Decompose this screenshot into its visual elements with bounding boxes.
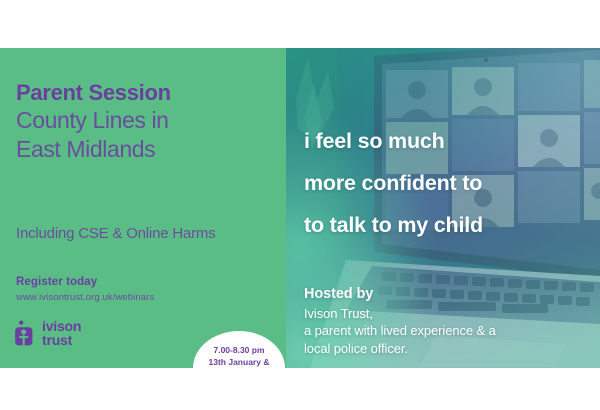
title-line-1: County Lines in (16, 106, 276, 135)
hosted-line-2: a parent with lived experience & a (304, 322, 596, 339)
quote-line-2: more confident to (304, 163, 594, 205)
subtitle-text: Including CSE & Online Harms (16, 225, 278, 243)
quote-text: i feel so much more confident to to talk… (304, 121, 594, 247)
right-photo-panel: i feel so much more confident to to talk… (286, 48, 600, 368)
hosted-line-3: local police officer. (304, 340, 596, 357)
left-green-panel: Parent Session County Lines in East Midl… (0, 48, 286, 368)
logo-word-line-1: ivison (42, 319, 81, 333)
register-today-label: Register today (16, 276, 216, 288)
ivison-trust-logo: ivison trust (14, 319, 81, 347)
register-url-link[interactable]: www.ivisontrust.org.uk/webinars (16, 292, 216, 303)
hosted-by-block: Hosted by Ivison Trust, a parent with li… (304, 286, 596, 357)
register-block: Register today www.ivisontrust.org.uk/we… (16, 276, 216, 303)
kicker-text: Parent Session (16, 80, 276, 105)
headline-block: Parent Session County Lines in East Midl… (16, 80, 276, 163)
title-line-2: East Midlands (16, 135, 276, 164)
logo-wordmark: ivison trust (42, 319, 81, 347)
quote-line-1: i feel so much (304, 121, 594, 163)
screenshot-canvas: Parent Session County Lines in East Midl… (0, 0, 600, 410)
logo-word-line-2: trust (42, 333, 81, 347)
date-line-1: 7.00-8.30 pm (213, 344, 264, 356)
date-line-2: 13th January & (209, 356, 270, 368)
hosted-line-1: Ivison Trust, (304, 305, 596, 322)
date-time-oval: 7.00-8.30 pm 13th January & 7.00-8.00 pm… (193, 331, 285, 368)
hosted-by-label: Hosted by (304, 286, 596, 302)
parent-figure-icon (14, 320, 36, 346)
quote-line-3: to talk to my child (304, 205, 594, 247)
webinar-banner: Parent Session County Lines in East Midl… (0, 48, 600, 368)
